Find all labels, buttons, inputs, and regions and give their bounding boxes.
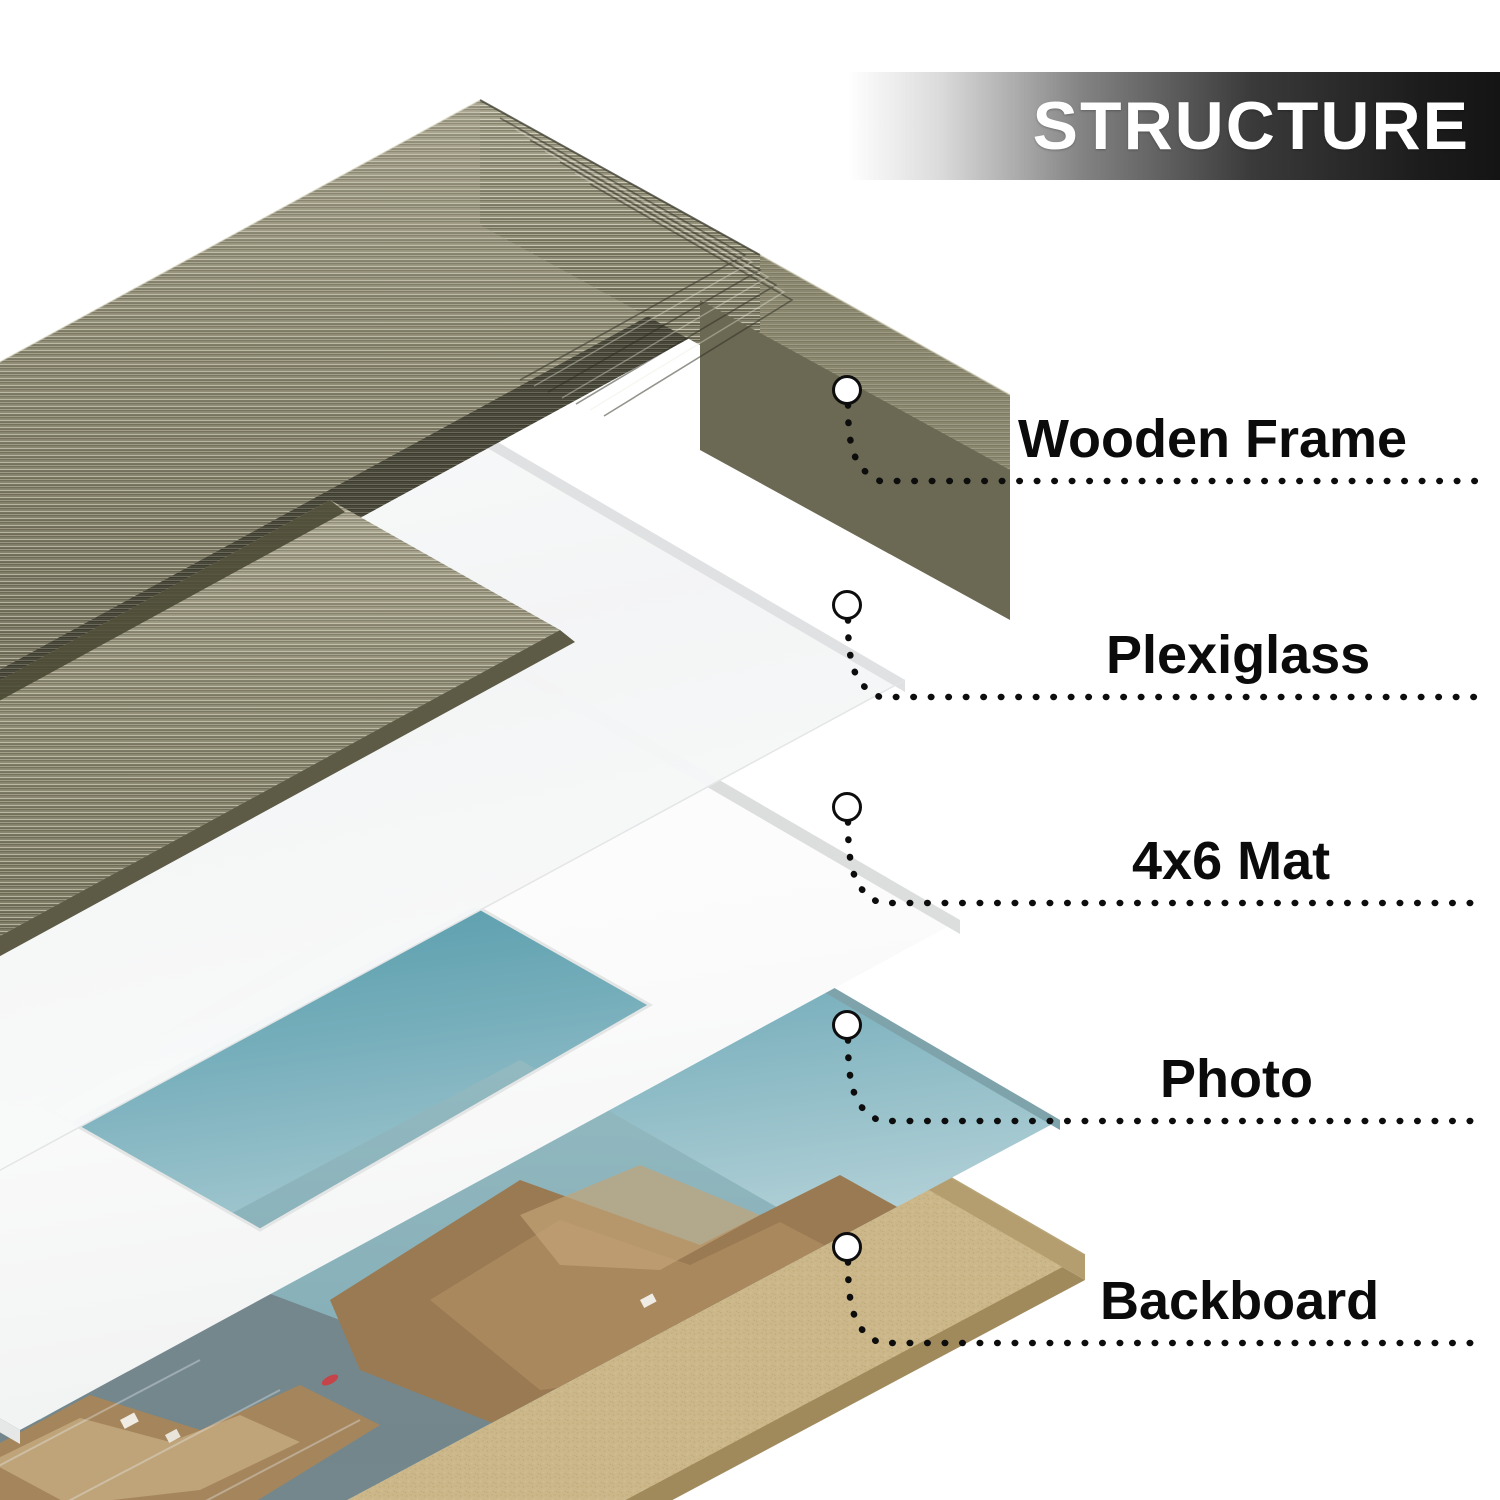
structure-banner: STRUCTURE <box>848 72 1500 180</box>
banner-title: STRUCTURE <box>1033 92 1470 160</box>
callout-label-plexiglass: Plexiglass <box>1106 628 1370 682</box>
callout-label-photo: Photo <box>1160 1052 1313 1106</box>
callout-marker-photo[interactable] <box>832 1010 862 1040</box>
callout-label-mat: 4x6 Mat <box>1132 834 1330 888</box>
callout-marker-mat[interactable] <box>832 792 862 822</box>
callout-label-wooden-frame: Wooden Frame <box>1018 412 1407 466</box>
callout-marker-wooden-frame[interactable] <box>832 375 862 405</box>
infographic-canvas: STRUCTURE Wooden Frame Plexiglass 4x6 Ma… <box>0 0 1500 1500</box>
callout-marker-plexiglass[interactable] <box>832 590 862 620</box>
callout-marker-backboard[interactable] <box>832 1232 862 1262</box>
callout-label-backboard: Backboard <box>1100 1274 1379 1328</box>
